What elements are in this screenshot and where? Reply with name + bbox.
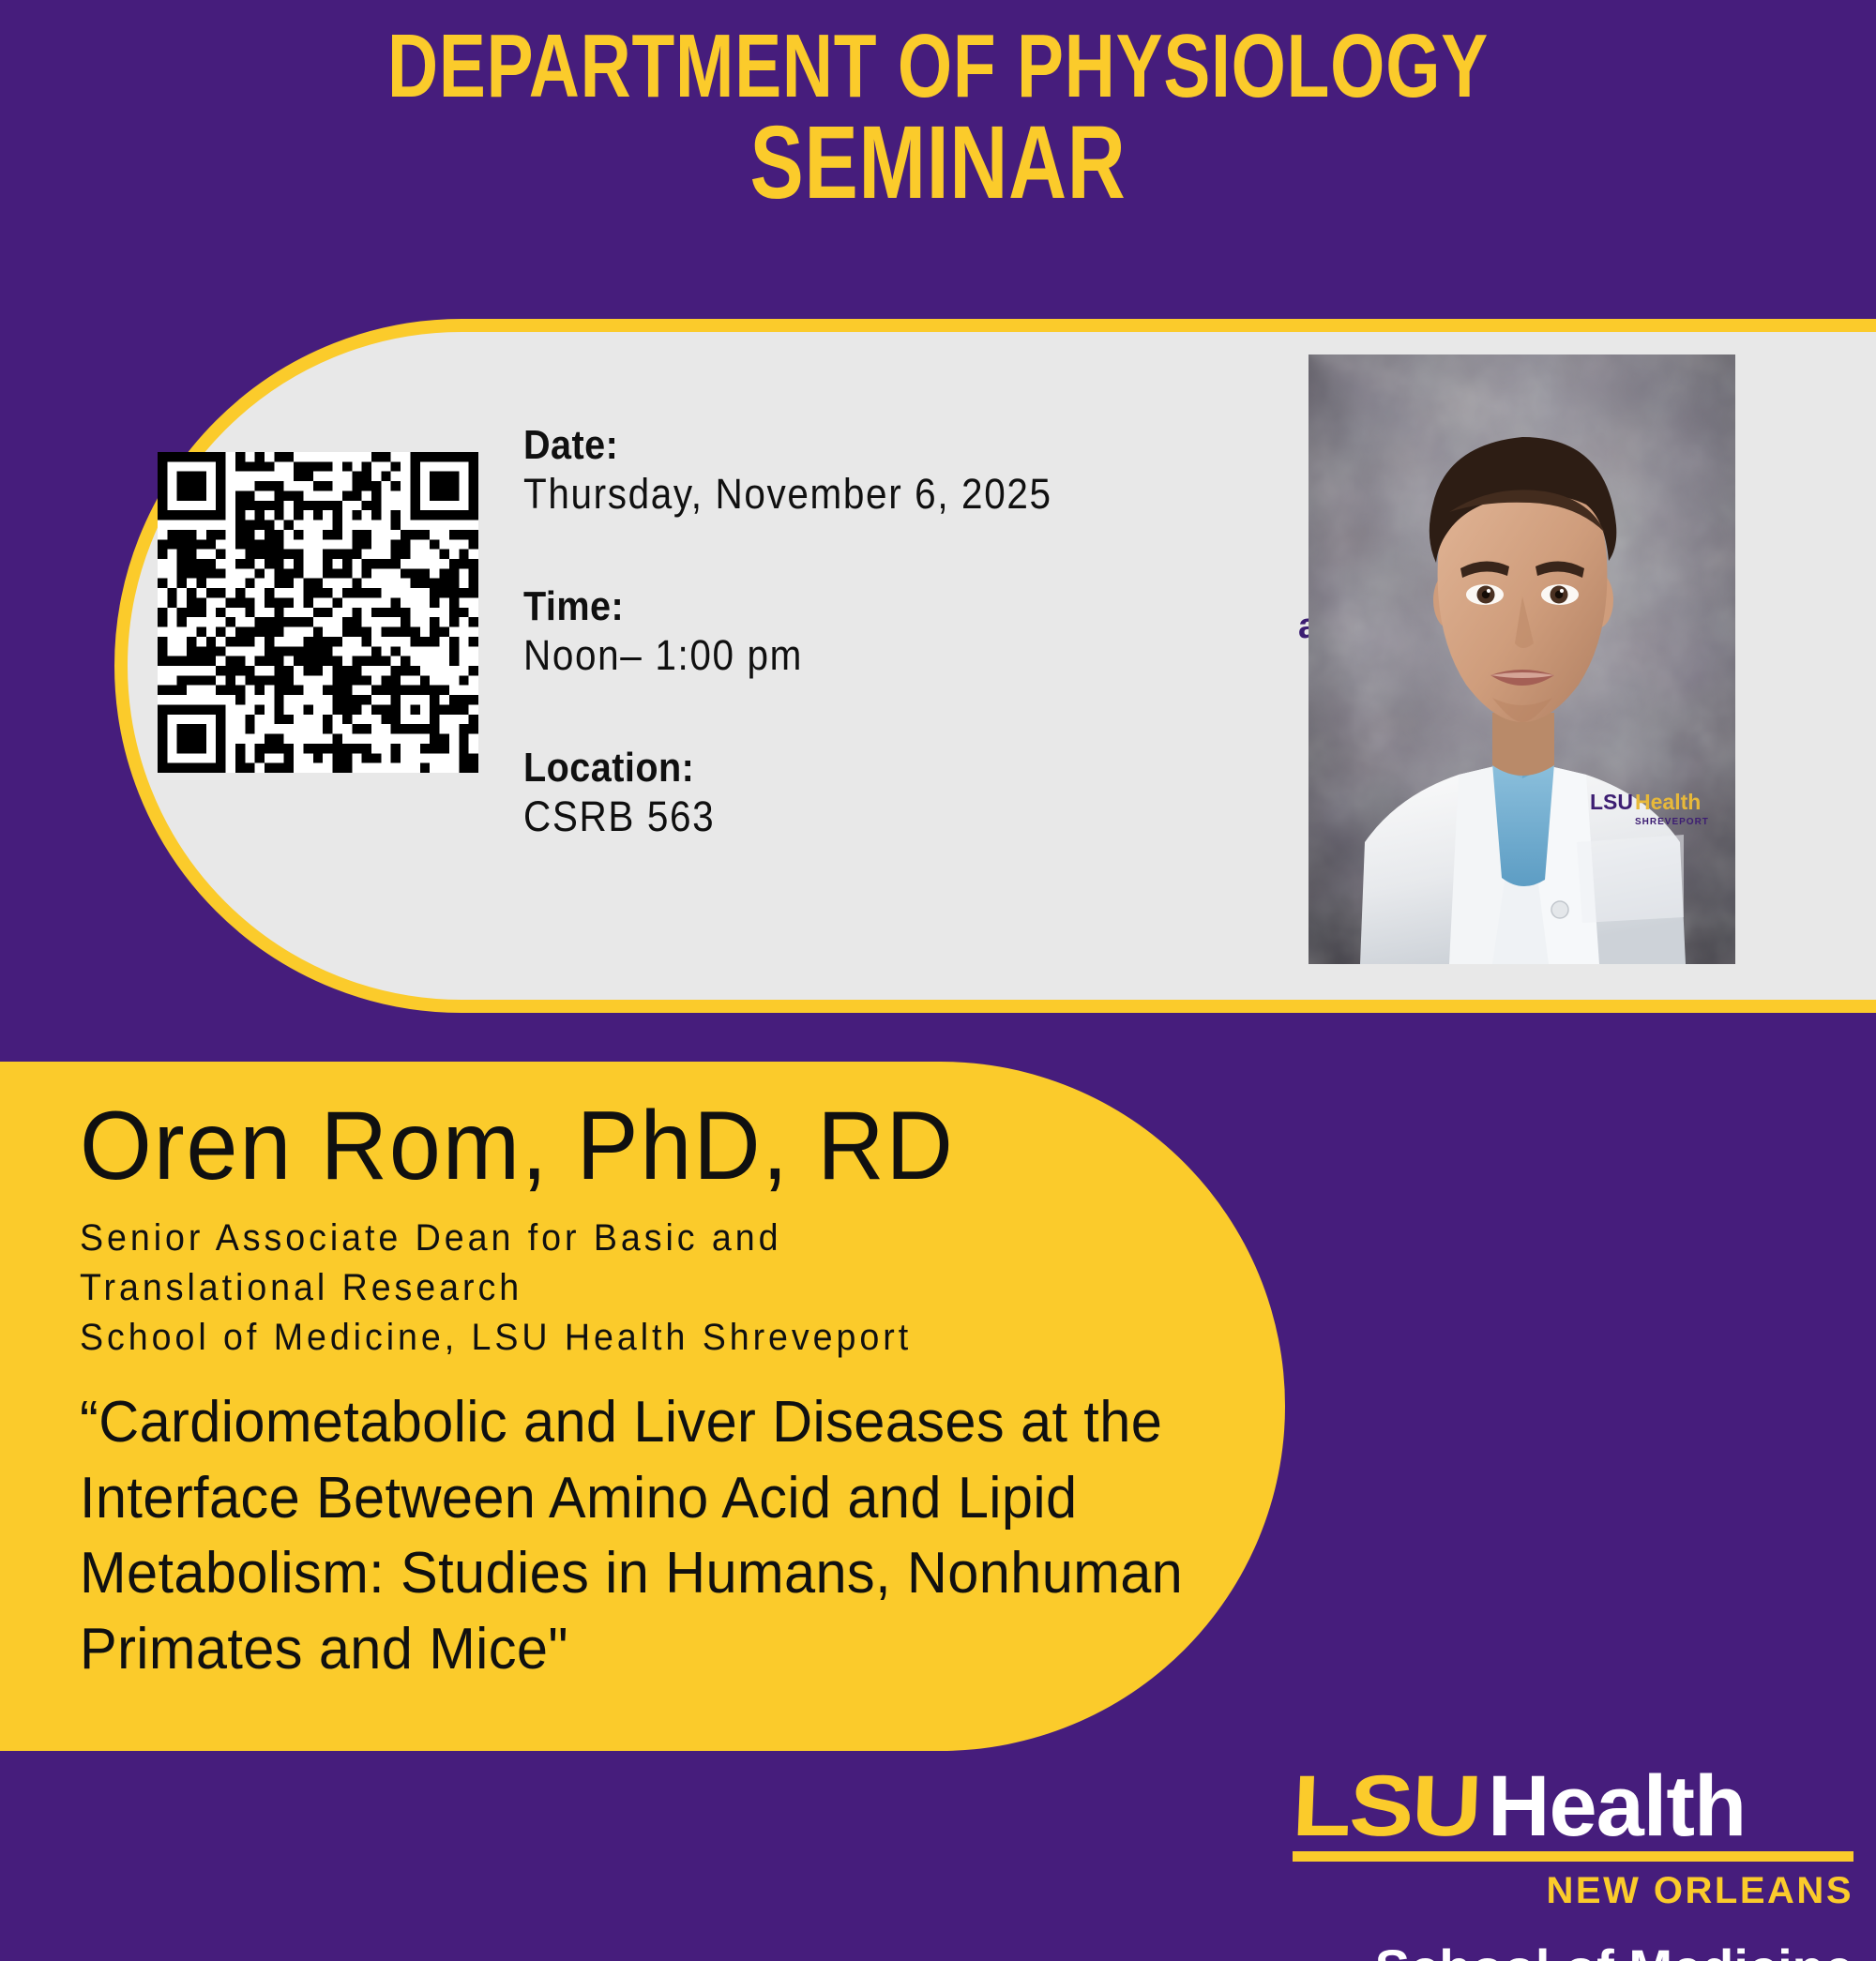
logo-city-text: NEW ORLEANS <box>1293 1869 1853 1912</box>
poster-header: DEPARTMENT OF PHYSIOLOGY SEMINAR <box>0 0 1876 244</box>
detail-time: Time: Noon– 1:00 pm <box>523 585 1236 679</box>
seminar-poster: DEPARTMENT OF PHYSIOLOGY SEMINAR Date: T… <box>0 0 1876 1961</box>
location-value: CSRB 563 <box>523 793 1165 840</box>
logo-lsu-text: LSU <box>1291 1763 1481 1849</box>
speaker-title-line-2: Translational Research <box>80 1263 1120 1313</box>
svg-text:SHREVEPORT: SHREVEPORT <box>1635 817 1709 827</box>
detail-location: Location: CSRB 563 <box>523 747 1236 840</box>
date-value: Thursday, November 6, 2025 <box>523 471 1165 518</box>
event-details: Date: Thursday, November 6, 2025 Time: N… <box>523 424 1236 840</box>
detail-date: Date: Thursday, November 6, 2025 <box>523 424 1236 518</box>
speaker-title-line-1: Senior Associate Dean for Basic and <box>80 1214 1120 1263</box>
logo-school-text: School of Medicine <box>1293 1938 1853 1961</box>
speaker-panel: Oren Rom, PhD, RD Senior Associate Dean … <box>0 1062 1285 1751</box>
location-label: Location: <box>523 747 1165 791</box>
talk-title: “Cardiometabolic and Liver Diseases at t… <box>80 1385 1188 1687</box>
time-value: Noon– 1:00 pm <box>523 632 1165 679</box>
speaker-titles: Senior Associate Dean for Basic and Tran… <box>80 1214 1120 1364</box>
svg-text:LSU: LSU <box>1590 790 1633 814</box>
time-label: Time: <box>523 585 1165 629</box>
speaker-name: Oren Rom, PhD, RD <box>80 1095 955 1198</box>
header-department-line: DEPARTMENT OF PHYSIOLOGY <box>206 21 1670 113</box>
header-seminar-line: SEMINAR <box>206 111 1670 216</box>
date-label: Date: <box>523 424 1165 468</box>
qr-code-canvas <box>158 452 478 773</box>
logo-health-text: Health <box>1488 1763 1746 1849</box>
speaker-title-line-3: School of Medicine, LSU Health Shrevepor… <box>80 1313 1120 1363</box>
logo-wordmark-row: LSUHealth <box>1293 1763 1855 1849</box>
speaker-portrait: LSU Health SHREVEPORT <box>1309 354 1735 964</box>
lsu-health-logo: LSUHealth NEW ORLEANS School of Medicine <box>1293 1763 1855 1951</box>
svg-text:Health: Health <box>1635 790 1701 814</box>
qr-code[interactable] <box>158 452 478 773</box>
